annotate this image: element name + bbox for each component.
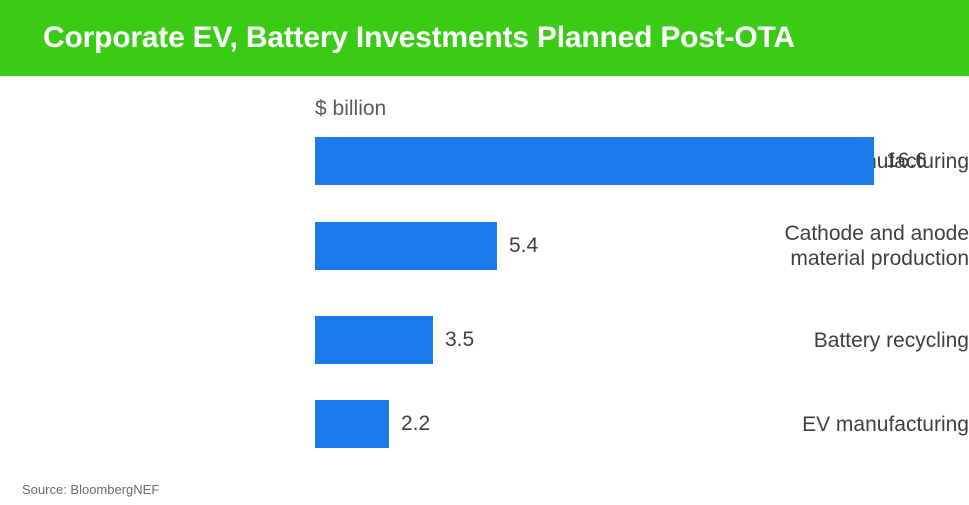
bar-group: 2.2 xyxy=(315,400,430,448)
table-row: EV manufacturing 2.2 xyxy=(0,400,969,448)
bar-value-label: 16.6 xyxy=(886,149,927,173)
bar-value-label: 2.2 xyxy=(401,412,430,436)
axis-unit-label: $ billion xyxy=(315,97,386,121)
category-label-cathode-anode-material-production: Cathode and anode material production xyxy=(669,222,969,270)
bar-value-label: 5.4 xyxy=(509,234,538,258)
category-label-line: EV manufacturing xyxy=(802,412,969,437)
category-label-battery-recycling: Battery recycling xyxy=(669,316,969,364)
bar-group: 3.5 xyxy=(315,316,474,364)
bar-cathode-anode-material-production[interactable] xyxy=(315,222,497,270)
bar-ev-manufacturing[interactable] xyxy=(315,400,389,448)
bar-battery-recycling[interactable] xyxy=(315,316,433,364)
bar-group: 5.4 xyxy=(315,222,538,270)
bar-value-label: 3.5 xyxy=(445,328,474,352)
table-row: Battery recycling 3.5 xyxy=(0,316,969,364)
chart-page: Corporate EV, Battery Investments Planne… xyxy=(0,0,969,505)
table-row: Battery manufacturing 16.6 xyxy=(0,137,969,185)
bar-group: 16.6 xyxy=(315,137,927,185)
bar-battery-manufacturing[interactable] xyxy=(315,137,874,185)
title-banner: Corporate EV, Battery Investments Planne… xyxy=(0,0,969,76)
table-row: Cathode and anode material production 5.… xyxy=(0,222,969,270)
category-label-line: Battery recycling xyxy=(814,328,969,353)
category-label-line: material production xyxy=(790,246,969,271)
source-note: Source: BloombergNEF xyxy=(22,482,159,497)
plot-area: $ billion Battery manufacturing 16.6 Cat… xyxy=(0,76,969,461)
page-title: Corporate EV, Battery Investments Planne… xyxy=(43,0,795,76)
category-label-ev-manufacturing: EV manufacturing xyxy=(669,400,969,448)
category-label-line: Cathode and anode xyxy=(785,221,969,246)
